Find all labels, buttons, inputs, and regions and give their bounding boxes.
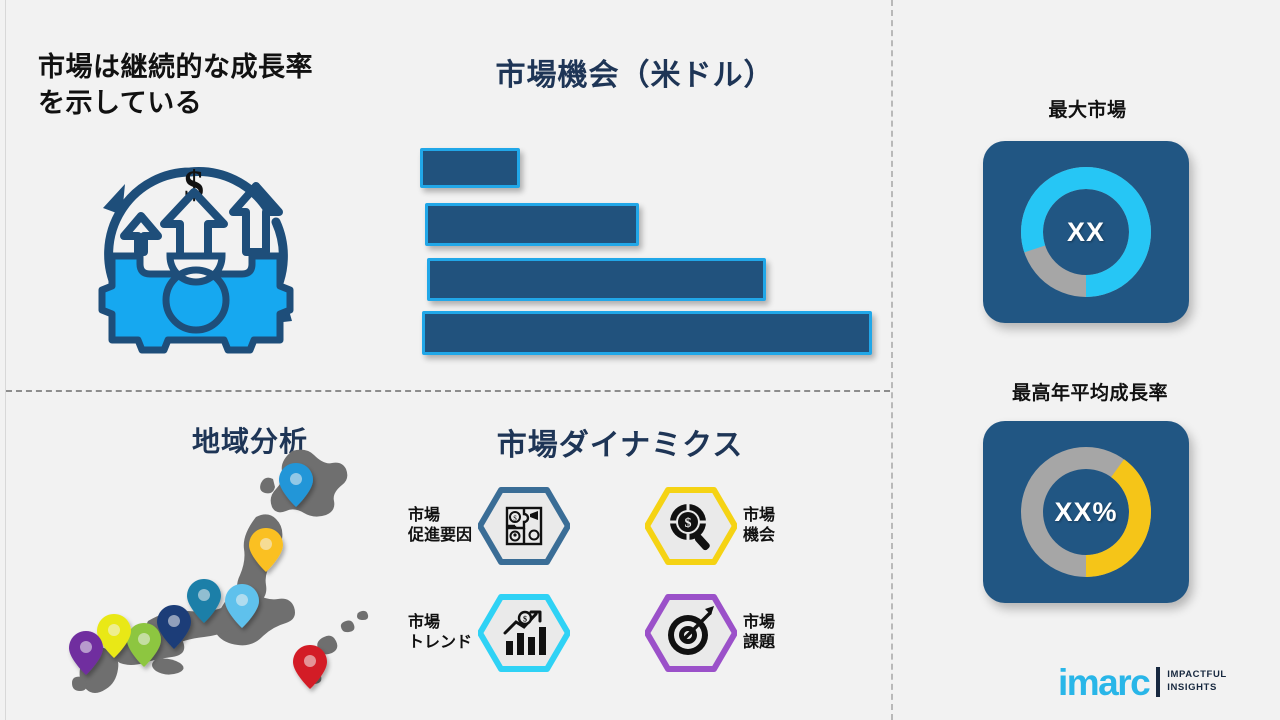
svg-text:$: $ <box>685 516 692 531</box>
dynamics-item-drivers[interactable]: 市場 促進要因 $ <box>408 486 570 566</box>
imarc-tagline-line1: IMPACTFUL <box>1167 669 1227 682</box>
vertical-dashed-divider <box>891 0 893 720</box>
highest-cagr-donut <box>1011 437 1161 587</box>
dynamics-item-drivers-label: 市場 促進要因 <box>408 506 472 547</box>
bar-1 <box>420 148 520 188</box>
magnifier-dollar-icon: $ <box>645 486 737 566</box>
left-edge-rule <box>5 0 6 720</box>
pin-kanto[interactable] <box>225 584 259 628</box>
horizontal-dashed-divider <box>6 390 890 392</box>
largest-market-title: 最大市場 <box>955 95 1220 122</box>
pin-tohoku[interactable] <box>249 528 283 572</box>
pin-kansai[interactable] <box>127 623 161 667</box>
pin-chubu[interactable] <box>157 605 191 649</box>
opportunity-panel-title: 市場機会（米ドル） <box>420 50 850 94</box>
slide-root: 市場は継続的な成長率 を示している $ <box>0 0 1280 720</box>
svg-text:$: $ <box>513 515 517 523</box>
imarc-tagline: IMPACTFUL INSIGHTS <box>1167 669 1227 695</box>
dynamics-panel-title: 市場ダイナミクス <box>410 420 830 464</box>
dynamics-item-trends-label: 市場 トレンド <box>408 613 472 654</box>
pin-chubu-north[interactable] <box>187 579 221 623</box>
dynamics-item-challenges[interactable]: 市場 課題 <box>645 593 775 673</box>
pin-kyushu[interactable] <box>69 631 103 675</box>
svg-text:$: $ <box>523 615 527 624</box>
growth-gear-arrows-icon: $ <box>78 140 313 368</box>
bar-3 <box>427 258 766 301</box>
dynamics-item-opportunities-label: 市場 機会 <box>743 506 775 547</box>
largest-market-donut <box>1011 157 1161 307</box>
bar-2 <box>425 203 639 246</box>
logo-divider <box>1156 667 1160 697</box>
bar-4 <box>422 311 872 355</box>
growth-panel-title: 市場は継続的な成長率 を示している <box>38 50 388 121</box>
puzzle-pieces-icon: $ <box>478 486 570 566</box>
japan-map <box>60 445 400 700</box>
dynamics-item-opportunities[interactable]: $ 市場 機会 <box>645 486 775 566</box>
imarc-wordmark: imarc <box>1058 664 1149 701</box>
imarc-tagline-line2: INSIGHTS <box>1167 682 1227 695</box>
growth-bar-chart-icon: $ <box>478 593 570 673</box>
target-dart-icon <box>645 593 737 673</box>
pin-hokkaido[interactable] <box>279 463 313 507</box>
largest-market-card: XX <box>983 141 1189 323</box>
dynamics-grid: 市場 促進要因 $ <box>400 478 840 693</box>
opportunity-bar-chart <box>418 146 878 356</box>
imarc-logo[interactable]: imarc IMPACTFUL INSIGHTS <box>1058 658 1258 706</box>
highest-cagr-title: 最高年平均成長率 <box>940 378 1240 405</box>
dynamics-item-trends[interactable]: 市場 トレンド $ <box>408 593 570 673</box>
pin-okinawa[interactable] <box>293 645 327 689</box>
dynamics-item-challenges-label: 市場 課題 <box>743 613 775 654</box>
highest-cagr-card: XX% <box>983 421 1189 603</box>
